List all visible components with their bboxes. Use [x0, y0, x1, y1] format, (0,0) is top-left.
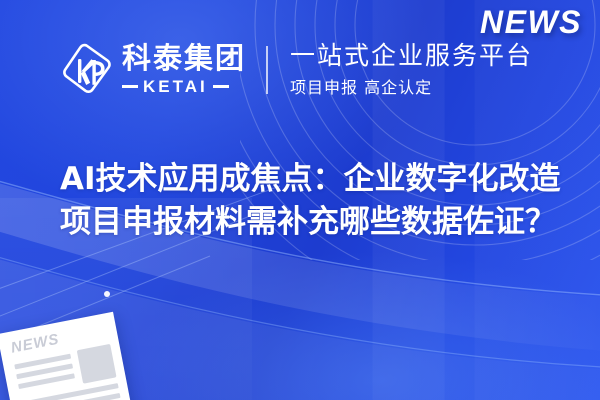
brand-name-cn: 科泰集团	[122, 43, 246, 73]
slogan-main: 一站式企业服务平台	[290, 42, 533, 71]
newspaper-thumbnail	[77, 344, 117, 384]
brand-wordmark: 科泰集团 KETAI	[122, 43, 246, 96]
slogan-block: 一站式企业服务平台 项目申报 高企认定	[290, 42, 533, 99]
background-bottom-glow	[120, 250, 600, 400]
dash-left-icon	[122, 85, 138, 88]
decorative-dot	[104, 291, 110, 297]
news-label: NEWS	[480, 4, 582, 41]
brand-name-en: KETAI	[143, 77, 208, 97]
page-title: AI技术应用成焦点：企业数字化改造项目申报材料需补充哪些数据佐证？	[60, 158, 570, 244]
banner-header: 科泰集团 KETAI 一站式企业服务平台 项目申报 高企认定	[60, 40, 533, 100]
newspaper-text-lines	[14, 352, 76, 396]
header-divider	[266, 46, 268, 94]
ketai-kp-diamond-logo-icon	[60, 40, 116, 100]
brand-logo[interactable]: 科泰集团 KETAI	[60, 40, 246, 100]
slogan-sub: 项目申报 高企认定	[290, 74, 533, 98]
brand-name-en-row: KETAI	[122, 77, 246, 97]
news-banner: NEWS 科泰集团	[0, 0, 600, 400]
dash-right-icon	[213, 85, 229, 88]
